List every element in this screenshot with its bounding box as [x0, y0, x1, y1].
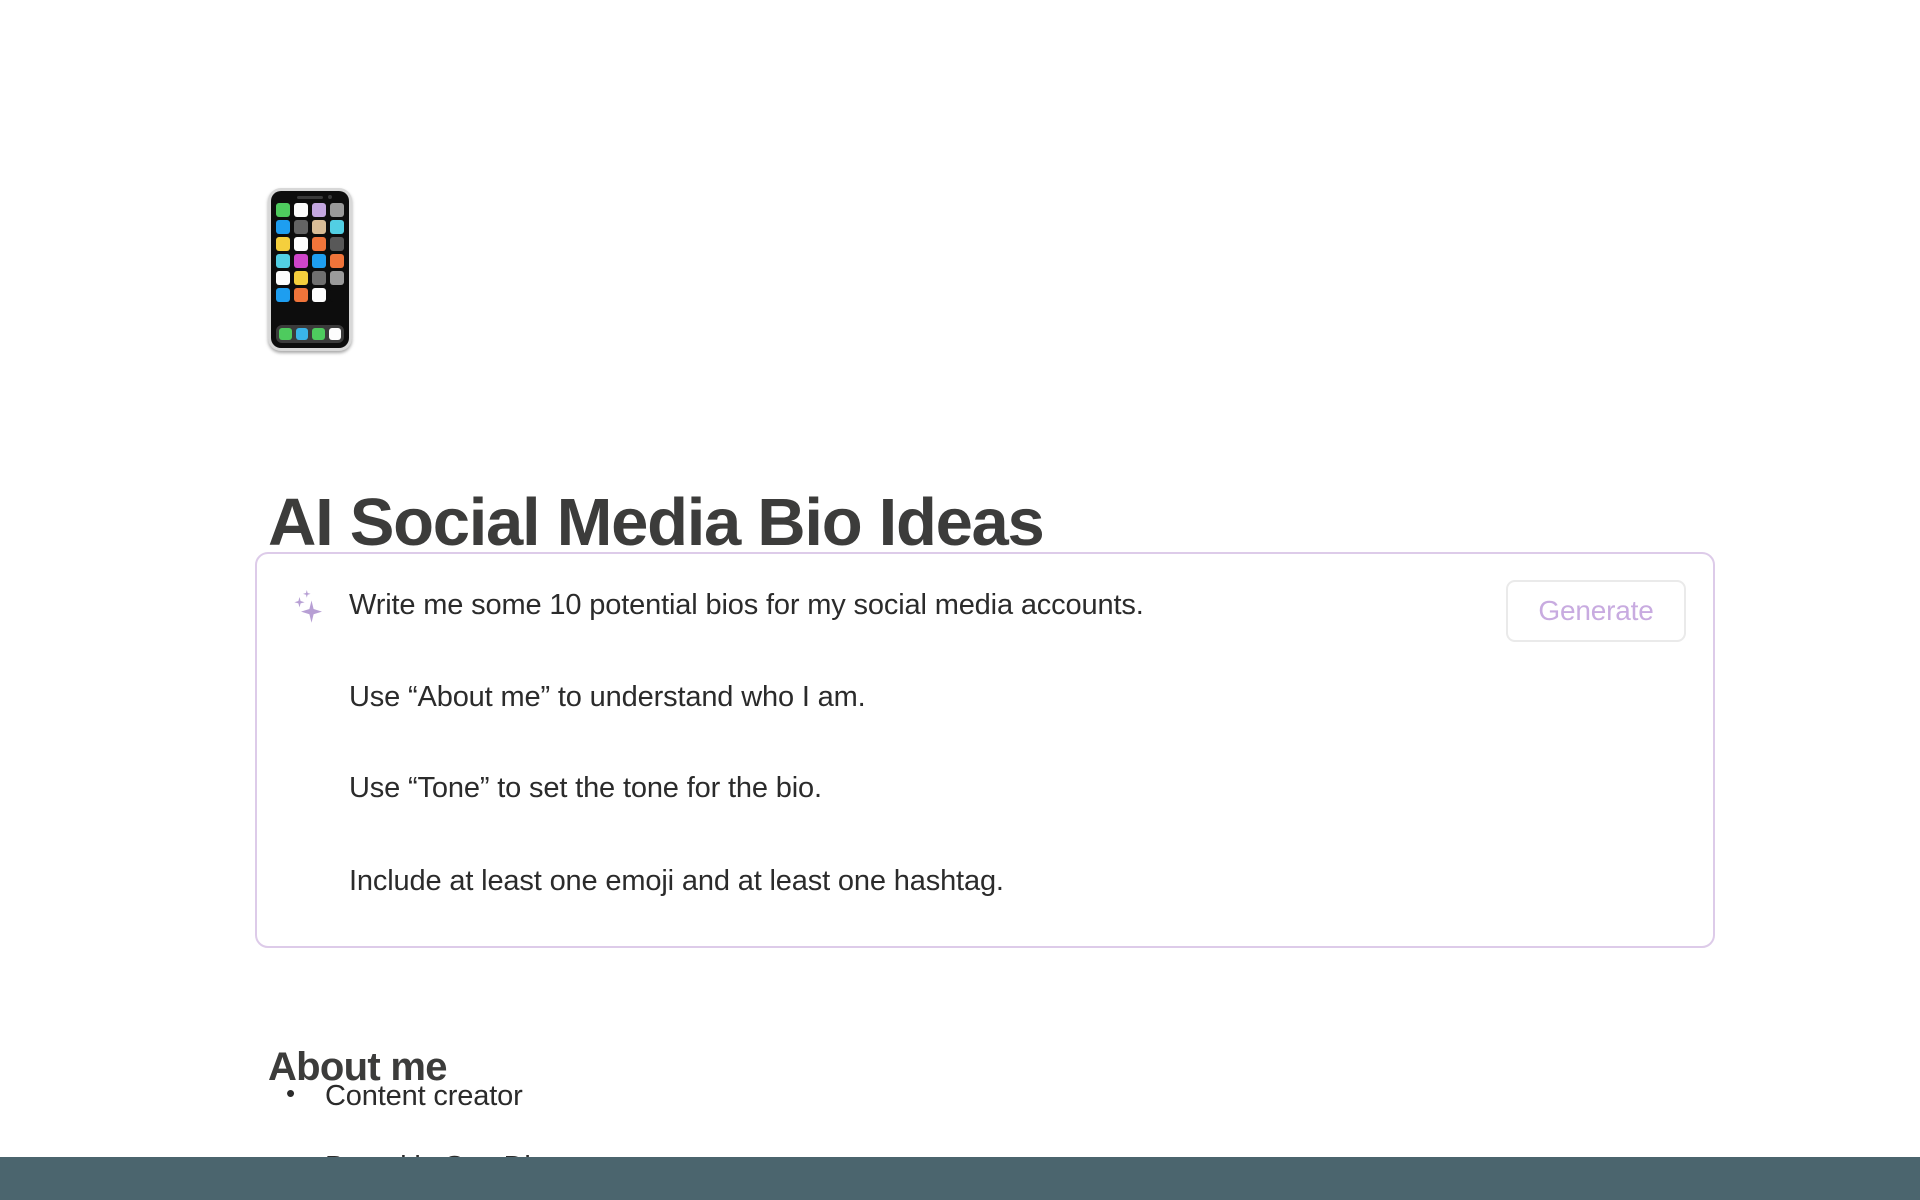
phone-notch-icon	[297, 196, 323, 199]
phone-app-icon	[312, 203, 326, 217]
phone-screen	[271, 191, 349, 348]
phone-app-icon	[330, 288, 344, 302]
prompt-line-2: Use “About me” to understand who I am.	[349, 683, 1144, 712]
prompt-lines: Write me some 10 potential bios for my s…	[349, 591, 1144, 896]
phone-app-icon	[312, 220, 326, 234]
prompt-line-1: Write me some 10 potential bios for my s…	[349, 591, 1144, 620]
bottom-status-bar	[0, 1157, 1920, 1200]
phone-app-icon	[276, 288, 290, 302]
phone-app-icon	[330, 271, 344, 285]
prompt-body: Write me some 10 potential bios for my s…	[257, 554, 1713, 896]
phone-app-icon	[294, 237, 308, 251]
phone-app-icon	[312, 271, 326, 285]
list-item: Content creator	[268, 1082, 1168, 1111]
phone-app-icon	[312, 237, 326, 251]
phone-app-icon	[330, 220, 344, 234]
phone-app-icon	[330, 237, 344, 251]
phone-app-icon	[330, 254, 344, 268]
prompt-card: Write me some 10 potential bios for my s…	[255, 552, 1715, 948]
phone-app-icon	[276, 254, 290, 268]
phone-app-icon	[294, 203, 308, 217]
phone-app-icon	[276, 237, 290, 251]
phone-app-icon	[294, 271, 308, 285]
phone-app-icon	[294, 288, 308, 302]
phone-app-grid	[276, 203, 344, 321]
phone-dock-icon	[312, 328, 325, 341]
phone-dock-icon	[296, 328, 309, 341]
phone-app-icon	[276, 271, 290, 285]
phone-app-icon	[294, 254, 308, 268]
page-root: AI Social Media Bio Ideas Write me some …	[0, 0, 1920, 1200]
prompt-line-4: Include at least one emoji and at least …	[349, 867, 1144, 896]
generate-button[interactable]: Generate	[1506, 580, 1686, 642]
phone-body	[268, 188, 352, 351]
prompt-line-3: Use “Tone” to set the tone for the bio.	[349, 774, 1144, 803]
phone-dock-icon	[329, 328, 342, 341]
phone-app-icon	[330, 203, 344, 217]
phone-app-icon	[312, 254, 326, 268]
page-title: AI Social Media Bio Ideas	[268, 485, 1043, 560]
phone-app-icon	[312, 288, 326, 302]
phone-dock-icon	[279, 328, 292, 341]
mobile-phone-emoji	[268, 188, 398, 358]
phone-app-icon	[276, 220, 290, 234]
phone-app-icon	[294, 220, 308, 234]
phone-dock	[276, 325, 344, 344]
phone-app-icon	[276, 203, 290, 217]
